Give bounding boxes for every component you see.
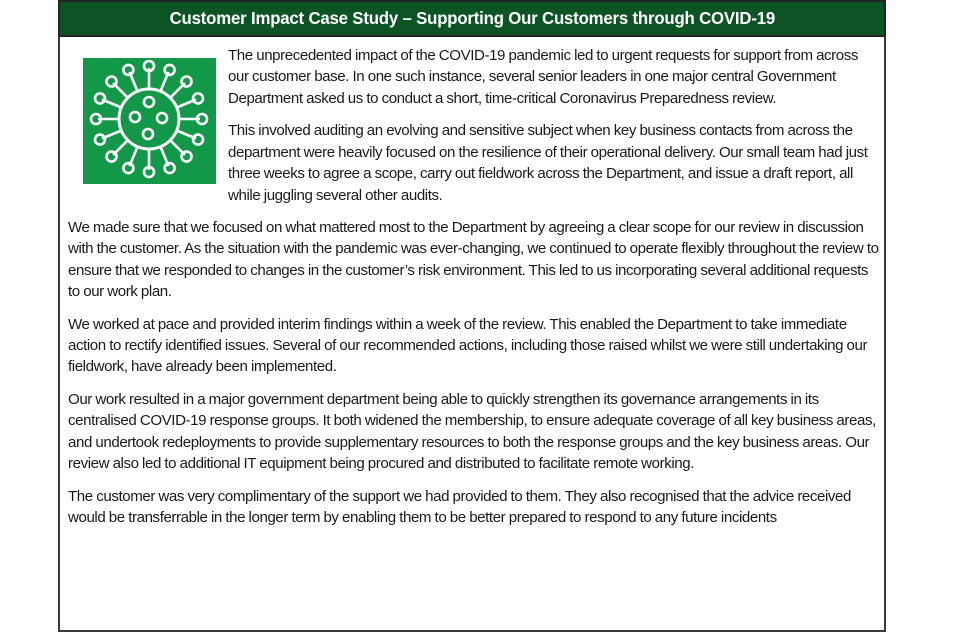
- coronavirus-icon: [83, 58, 216, 184]
- paragraph-4: We worked at pace and provided interim f…: [68, 314, 880, 378]
- paragraph-5: Our work resulted in a major government …: [68, 389, 880, 475]
- document-body: The unprecedented impact of the COVID-19…: [68, 45, 880, 625]
- paragraph-6: The customer was very complimentary of t…: [68, 486, 880, 529]
- paragraph-3: We made sure that we focused on what mat…: [68, 217, 880, 303]
- case-study-page: Customer Impact Case Study – Supporting …: [0, 0, 960, 640]
- page-title: Customer Impact Case Study – Supporting …: [169, 8, 774, 29]
- document-title-bar: Customer Impact Case Study – Supporting …: [58, 0, 886, 37]
